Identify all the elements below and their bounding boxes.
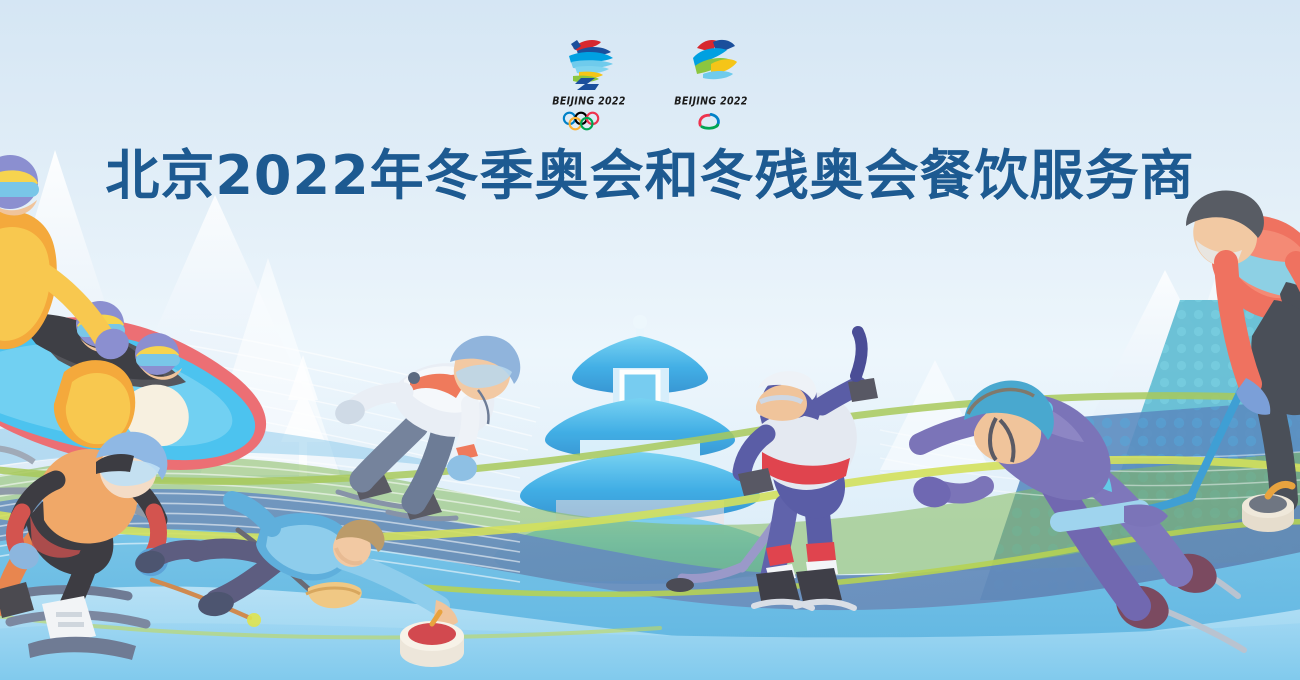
beijing-2022-paralympic-emblem-icon xyxy=(673,34,749,94)
olympic-rings-icon xyxy=(558,110,620,132)
athlete-ice-hockey-player xyxy=(666,332,878,608)
olympic-banner: BEIJING 2022 BEIJING 2022 xyxy=(0,0,1300,680)
beijing-2022-olympic-emblem-icon xyxy=(551,34,627,94)
olympic-wordmark: BEIJING 2022 xyxy=(552,95,625,107)
paralympic-emblem-block: BEIJING 2022 xyxy=(668,34,754,132)
paralympic-wordmark: BEIJING 2022 xyxy=(674,95,747,107)
olympic-emblem-block: BEIJING 2022 xyxy=(546,34,632,132)
page-title: 北京2022年冬季奥会和冬残奥会餐饮服务商 xyxy=(0,146,1300,206)
agitos-icon xyxy=(682,110,740,132)
athlete-curler-sweeper xyxy=(133,500,464,667)
athlete-short-track-skater xyxy=(333,336,521,520)
emblem-row: BEIJING 2022 BEIJING 2022 xyxy=(0,34,1300,132)
